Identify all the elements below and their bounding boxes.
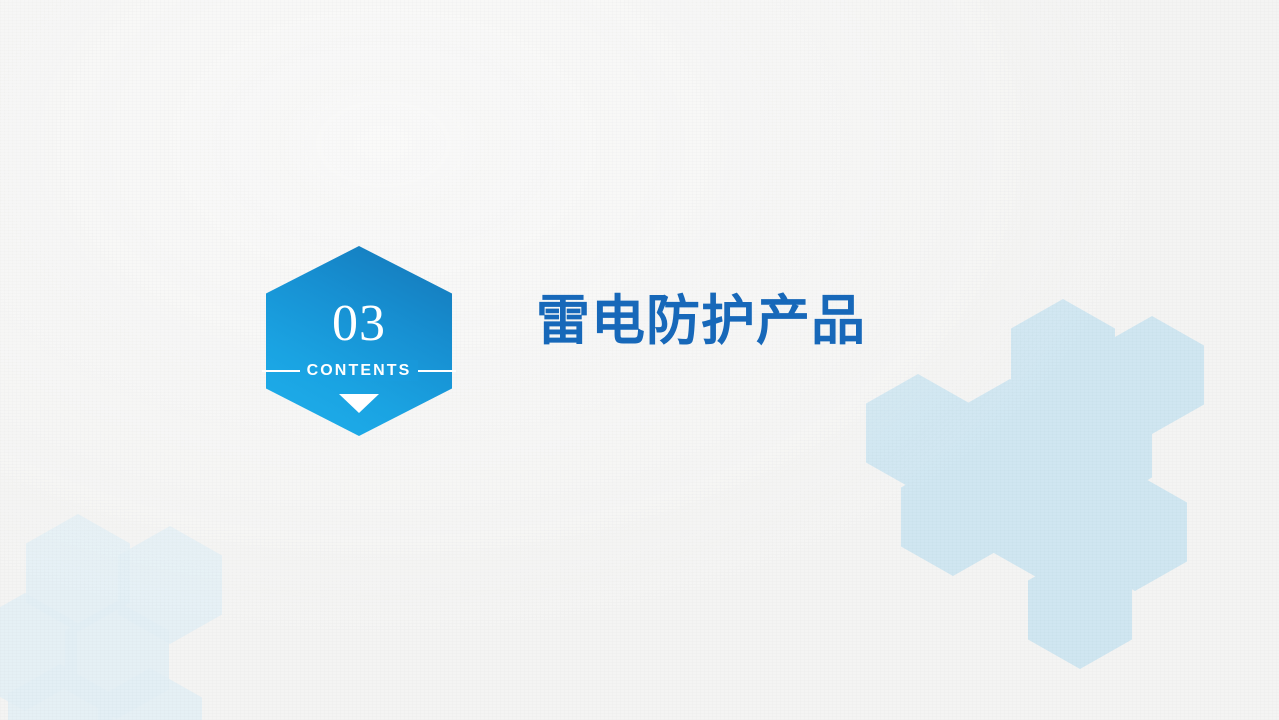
badge-caption-text: CONTENTS — [300, 360, 419, 381]
honeycomb-decoration-right — [0, 0, 1279, 720]
badge-caption: CONTENTS — [266, 360, 452, 381]
page-title: 雷电防护产品 — [536, 288, 866, 354]
caret-down-icon — [339, 394, 379, 413]
contents-badge: 03 CONTENTS — [266, 246, 452, 436]
section-number: 03 — [266, 298, 452, 350]
presentation-slide: 03 CONTENTS 雷电防护产品 — [0, 0, 1279, 720]
